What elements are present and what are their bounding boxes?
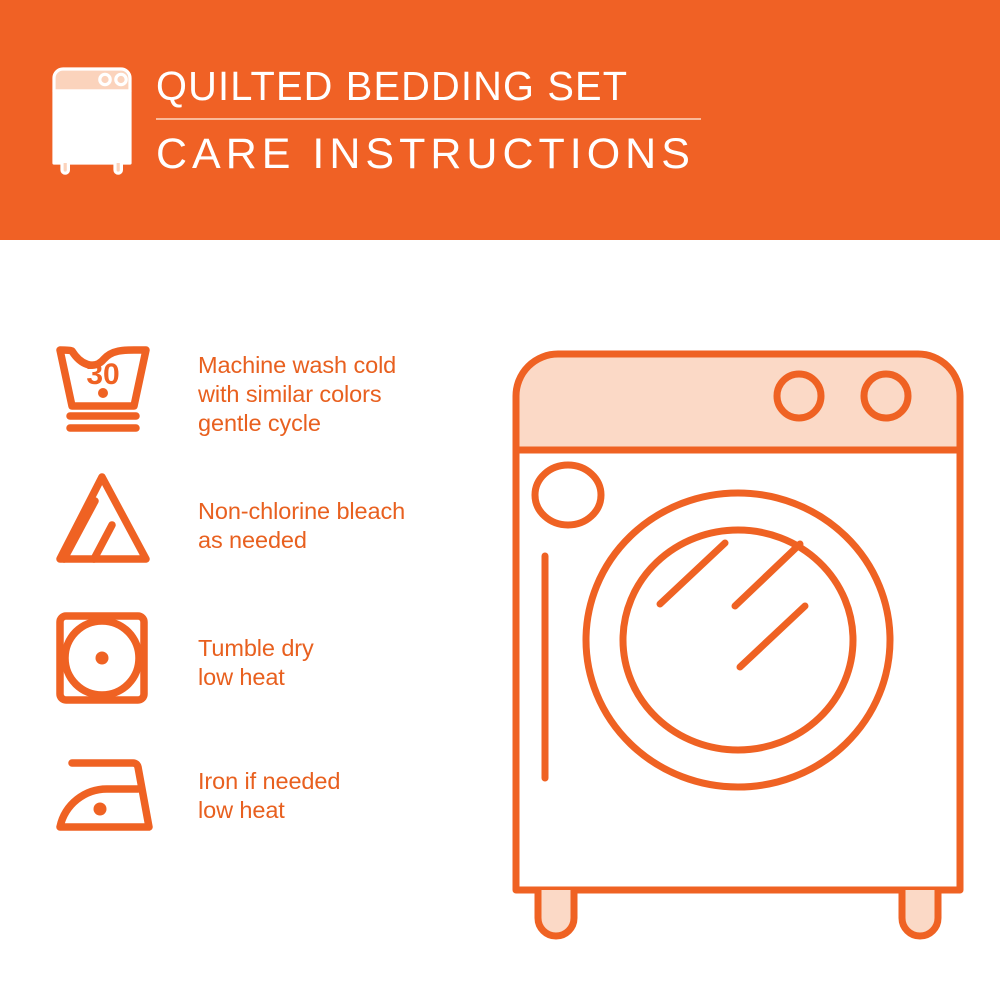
care-label-line: gentle cycle — [198, 409, 396, 438]
machine-leg — [902, 890, 938, 936]
title-divider — [156, 118, 701, 120]
care-row-label: Machine wash cold with similar colors ge… — [198, 330, 396, 438]
care-instructions-list: 30 Machine wash cold with similar colors… — [50, 330, 470, 878]
care-label-line: Machine wash cold — [198, 351, 396, 380]
care-row: Tumble dry low heat — [50, 604, 470, 714]
non-chlorine-bleach-triangle-icon — [50, 467, 162, 577]
header-band: QUILTED BEDDING SET CARE INSTRUCTIONS — [0, 0, 1000, 240]
machine-wash-tub-icon: 30 — [50, 330, 162, 440]
care-row-label: Iron if needed low heat — [198, 741, 340, 825]
tumble-dry-square-icon — [50, 604, 162, 714]
care-label-line: Non-chlorine bleach — [198, 497, 405, 526]
iron-heat-dot — [94, 803, 107, 816]
care-label-line: low heat — [198, 796, 340, 825]
page-title: QUILTED BEDDING SET — [156, 62, 685, 110]
care-row-label: Tumble dry low heat — [198, 604, 314, 692]
care-label-line: Iron if needed — [198, 767, 340, 796]
machine-body — [516, 450, 960, 890]
care-instructions-infographic: QUILTED BEDDING SET CARE INSTRUCTIONS 30… — [0, 0, 1000, 1000]
header-content: QUILTED BEDDING SET CARE INSTRUCTIONS — [44, 62, 701, 179]
care-row: Non-chlorine bleach as needed — [50, 467, 470, 577]
dry-heat-dot — [96, 652, 109, 665]
wash-temperature-value: 30 — [86, 358, 119, 391]
header-titles: QUILTED BEDDING SET CARE INSTRUCTIONS — [156, 62, 701, 179]
front-load-washing-machine-illustration — [488, 330, 988, 950]
care-label-line: Tumble dry — [198, 634, 314, 663]
control-panel — [516, 354, 960, 450]
care-row: Iron if needed low heat — [50, 741, 470, 851]
care-label-line: low heat — [198, 663, 314, 692]
wash-heat-dot — [98, 388, 108, 398]
washing-machine-icon — [44, 64, 140, 176]
care-label-line: as needed — [198, 526, 405, 555]
machine-leg — [538, 890, 574, 936]
care-row-label: Non-chlorine bleach as needed — [198, 467, 405, 555]
iron-icon — [50, 741, 162, 851]
care-row: 30 Machine wash cold with similar colors… — [50, 330, 470, 440]
page-subtitle: CARE INSTRUCTIONS — [156, 129, 701, 179]
care-label-line: with similar colors — [198, 380, 396, 409]
